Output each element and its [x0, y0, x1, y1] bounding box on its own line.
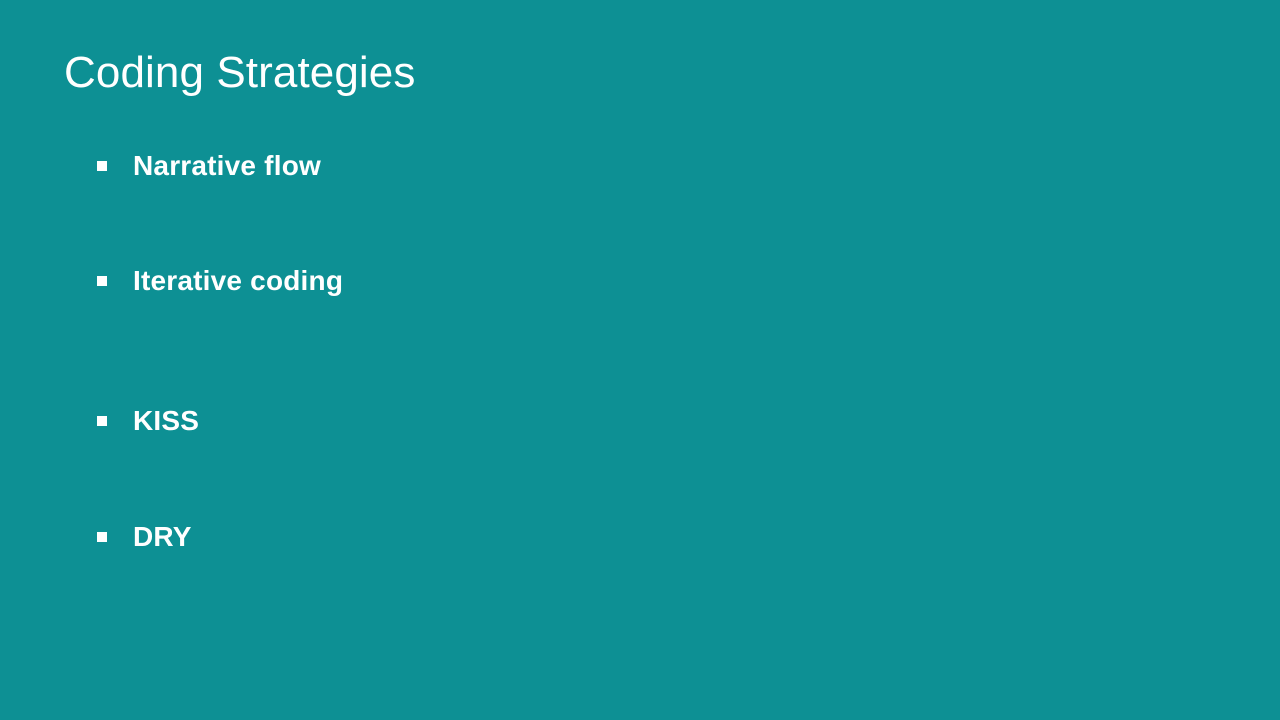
page-title: Coding Strategies [64, 45, 415, 101]
square-bullet-icon [97, 276, 107, 286]
square-bullet-icon [97, 416, 107, 426]
list-item: Iterative coding [97, 261, 343, 301]
list-item: KISS [97, 401, 199, 441]
list-item-label: Narrative flow [133, 146, 321, 186]
list-item: DRY [97, 517, 192, 557]
list-item-label: DRY [133, 517, 192, 557]
square-bullet-icon [97, 161, 107, 171]
presentation-slide: Coding Strategies Narrative flow Iterati… [0, 0, 1280, 720]
list-item-label: KISS [133, 401, 199, 441]
list-item: Narrative flow [97, 146, 321, 186]
list-item-label: Iterative coding [133, 261, 343, 301]
square-bullet-icon [97, 532, 107, 542]
